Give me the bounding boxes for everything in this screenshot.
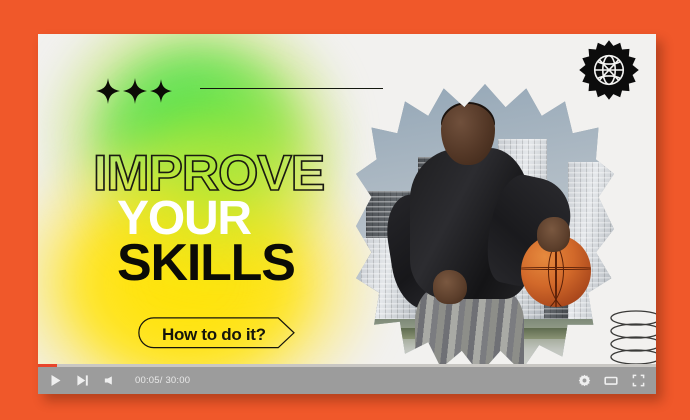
- page-background: IMPROVE YOUR SKILLS How to do it?: [0, 0, 690, 420]
- basketball-player-photo: [356, 84, 614, 374]
- how-to-do-it-button[interactable]: How to do it?: [138, 317, 296, 353]
- cta-label: How to do it?: [162, 325, 266, 345]
- fullscreen-icon[interactable]: [629, 372, 647, 390]
- gear-icon[interactable]: [575, 372, 593, 390]
- video-thumbnail-card[interactable]: IMPROVE YOUR SKILLS How to do it?: [38, 34, 656, 394]
- theater-mode-icon[interactable]: [602, 372, 620, 390]
- photo-player-shorts: [415, 287, 523, 374]
- time-display: 00:05/ 30:00: [135, 375, 190, 386]
- sparkle-star-icon: [150, 79, 172, 103]
- player-control-bar: 00:05/ 30:00: [38, 367, 656, 394]
- play-icon[interactable]: [46, 372, 64, 390]
- photo-player-hand-left: [433, 270, 467, 305]
- sparkle-star-icon: [96, 78, 120, 104]
- sparkle-star-icon: [123, 78, 147, 104]
- starburst-photo-frame: [356, 84, 614, 374]
- player-right-controls: [575, 372, 647, 390]
- next-track-icon[interactable]: [73, 372, 91, 390]
- top-sparkles: [96, 78, 172, 104]
- photo-player-hand-right: [537, 217, 571, 252]
- volume-icon[interactable]: [100, 372, 118, 390]
